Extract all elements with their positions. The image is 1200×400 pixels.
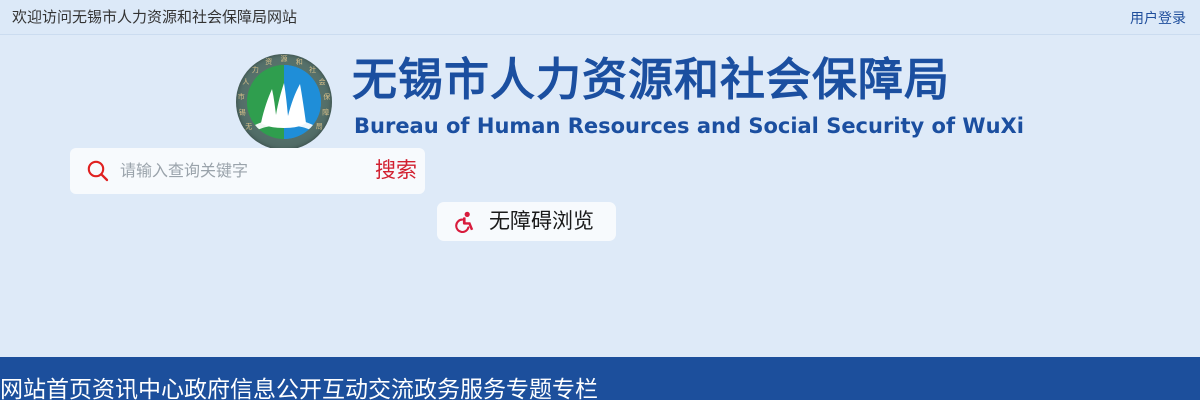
nav-item-1[interactable]: 资讯中心	[92, 375, 184, 400]
main-navigation-bar: 网站首页资讯中心政府信息公开互动交流政务服务专题专栏	[0, 357, 1200, 400]
search-icon	[86, 159, 110, 183]
search-box[interactable]: 搜索	[70, 148, 425, 194]
accessibility-browse-button[interactable]: 无障碍浏览	[437, 202, 616, 241]
user-login-link[interactable]: 用户登录	[1130, 10, 1186, 27]
wheelchair-icon	[454, 211, 476, 233]
nav-item-2[interactable]: 政府信息公开	[184, 375, 322, 400]
site-header-banner: 无锡市人力资源和社会保障局 无锡市人力资源和社会保障局 Bureau of Hu…	[0, 36, 1200, 357]
nav-item-4[interactable]: 政务服务	[414, 375, 506, 400]
nav-item-label: 资讯中心	[92, 376, 184, 400]
search-input[interactable]	[118, 148, 372, 196]
nav-item-label: 政务服务	[414, 376, 506, 400]
nav-item-0[interactable]: 网站首页	[0, 375, 92, 400]
nav-item-label: 网站首页	[0, 376, 92, 400]
search-button[interactable]: 搜索	[375, 159, 417, 183]
accessibility-label: 无障碍浏览	[489, 210, 594, 234]
wuxi-hrss-emblem-icon: 无锡市人力资源和社会保障局	[236, 54, 332, 150]
page-subtitle-english: Bureau of Human Resources and Social Sec…	[354, 114, 1024, 139]
emblem-mountain-glyph	[247, 65, 321, 139]
welcome-message: 欢迎访问无锡市人力资源和社会保障局网站	[12, 9, 297, 27]
nav-item-5[interactable]: 专题专栏	[506, 375, 598, 400]
page-title: 无锡市人力资源和社会保障局	[352, 55, 950, 105]
top-utility-bar: 欢迎访问无锡市人力资源和社会保障局网站 用户登录	[0, 0, 1200, 35]
nav-item-label: 互动交流	[322, 376, 414, 400]
main-nav-list: 网站首页资讯中心政府信息公开互动交流政务服务专题专栏	[0, 375, 598, 400]
nav-item-label: 专题专栏	[506, 376, 598, 400]
page-root: 欢迎访问无锡市人力资源和社会保障局网站 用户登录 无锡市人力资源和社会保障局 无…	[0, 0, 1200, 400]
nav-item-label: 政府信息公开	[184, 376, 322, 400]
nav-item-3[interactable]: 互动交流	[322, 375, 414, 400]
emblem-disc	[247, 65, 321, 139]
